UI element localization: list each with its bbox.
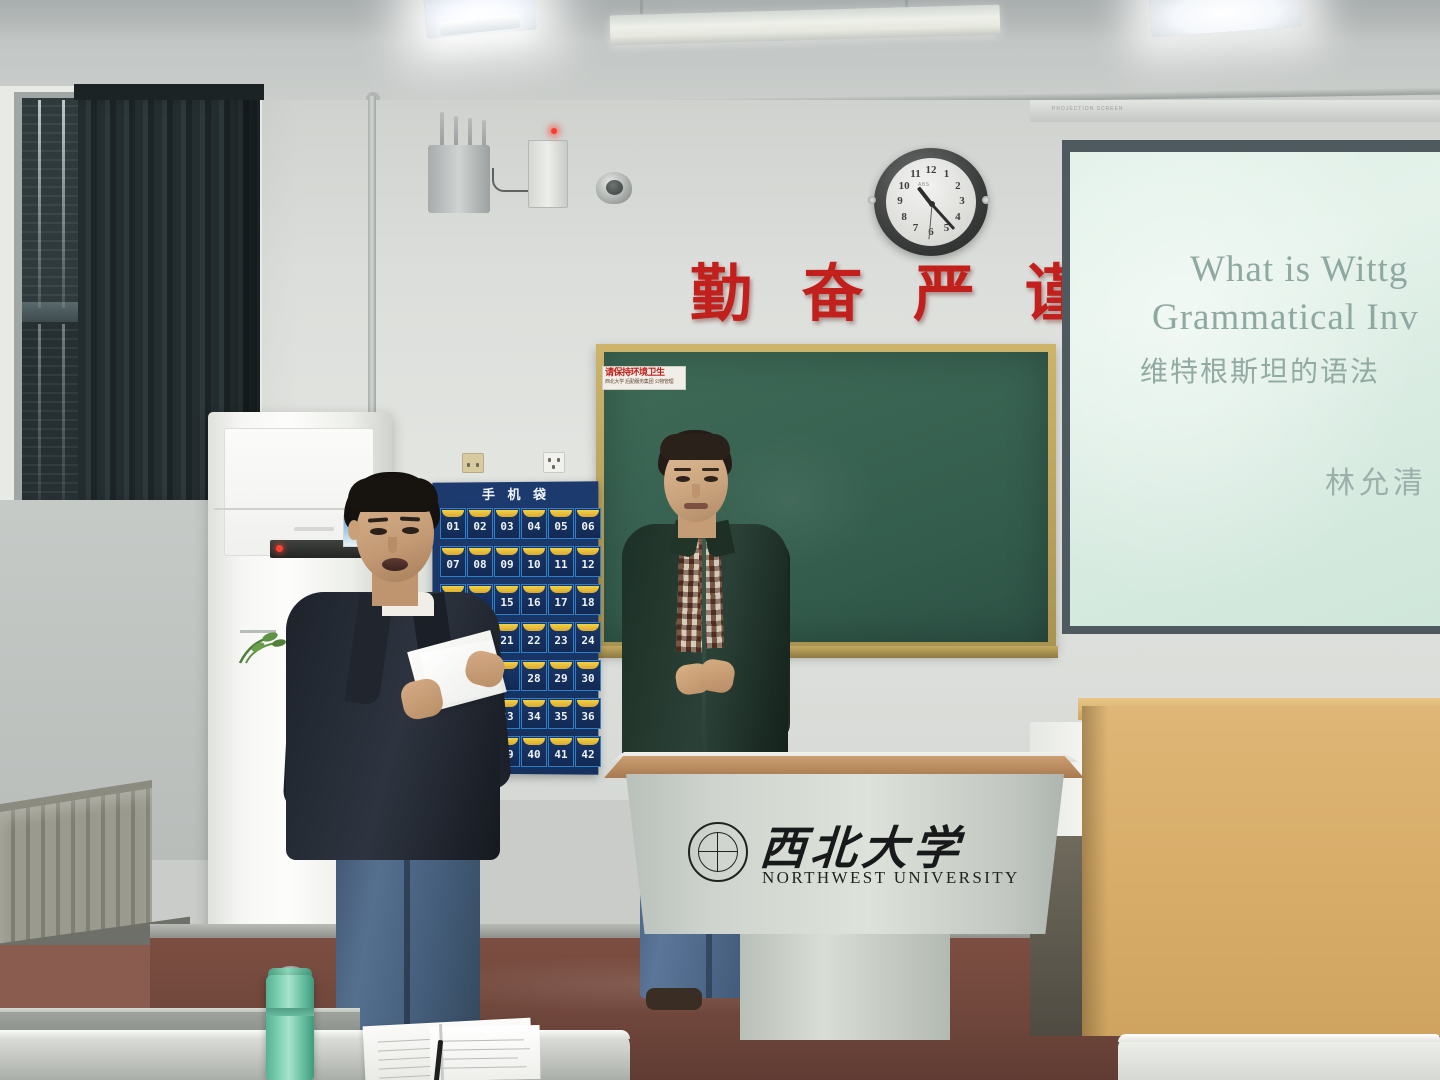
- clock-numeral: 6: [924, 226, 938, 238]
- clock-numeral: 1: [940, 168, 954, 180]
- phone-pocket[interactable]: 22: [521, 622, 547, 653]
- blind-cord[interactable]: [38, 100, 41, 308]
- phone-pocket[interactable]: 02: [467, 508, 493, 539]
- curtain-rail: [74, 84, 264, 100]
- podium-university-name-english: NORTHWEST UNIVERSITY: [762, 868, 1020, 888]
- thermos-band: [266, 1008, 314, 1016]
- phone-pocket-number: 18: [576, 596, 600, 609]
- phone-pocket[interactable]: 16: [521, 584, 547, 615]
- signal-jammer-device: [428, 145, 490, 213]
- phone-pocket-number: 35: [549, 710, 573, 723]
- person-left-ear: [348, 520, 360, 540]
- dome-sensor-lens: [606, 180, 623, 195]
- phone-pocket[interactable]: 30: [575, 660, 601, 691]
- person-center-eyebrow: [674, 468, 691, 471]
- slide-title-chinese: 维特根斯坦的语法: [1140, 350, 1380, 390]
- podium-column: [740, 930, 950, 1040]
- phone-pocket[interactable]: 08: [467, 546, 493, 577]
- phone-pocket-number: 15: [495, 596, 519, 609]
- phone-pocket[interactable]: 28: [521, 660, 547, 691]
- clock-numeral: 9: [893, 195, 907, 207]
- classroom-photo: 121234567891011 ABS 勤 奋 严 谨 请保持环境卫生 西北大学…: [0, 0, 1440, 1080]
- phone-pocket[interactable]: 24: [575, 622, 601, 653]
- wall-socket-tan[interactable]: [462, 453, 484, 473]
- open-notebook-right-page[interactable]: [430, 1025, 541, 1080]
- phone-pocket-number: 41: [549, 748, 573, 761]
- phone-pocket-number: 06: [576, 520, 600, 533]
- phone-pocket[interactable]: 11: [548, 546, 574, 577]
- phone-pocket-number: 07: [441, 558, 465, 571]
- green-thermos[interactable]: [266, 975, 314, 1080]
- phone-pocket-number: 17: [549, 596, 573, 609]
- phone-pocket-number: 28: [522, 672, 546, 685]
- notice-line-2: 西北大学 后勤服务集团 公物管理: [605, 379, 683, 386]
- phone-pocket[interactable]: 34: [521, 698, 547, 729]
- phone-pocket[interactable]: 18: [575, 584, 601, 615]
- clock-mount-screw: [982, 196, 990, 204]
- wall-slogan: 勤 奋 严 谨: [690, 258, 1120, 330]
- phone-pocket-number: 22: [522, 634, 546, 647]
- tube-hanger: [640, 0, 643, 14]
- notice-line-1: 请保持环境卫生: [605, 368, 683, 379]
- person-center-mouth: [684, 503, 708, 509]
- phone-pocket-number: 34: [522, 710, 546, 723]
- seal-divider-horizontal: [698, 851, 738, 852]
- right-student-table-edge: [1118, 1034, 1440, 1042]
- person-center-eye: [676, 476, 690, 482]
- power-led-icon: [276, 545, 283, 552]
- slide-author: 林允清: [1325, 458, 1427, 502]
- phone-pocket-number: 16: [522, 596, 546, 609]
- person-center-eyebrow: [702, 468, 719, 471]
- phone-pocket-number: 01: [441, 520, 465, 533]
- phone-pocket-number: 42: [576, 748, 600, 761]
- phone-pocket-number: 04: [522, 520, 546, 533]
- ac-vent-slot: [294, 527, 334, 531]
- phone-pocket[interactable]: 15: [494, 584, 520, 615]
- phone-pocket-chart-title: 手 机 袋: [440, 486, 592, 506]
- status-led-icon: [551, 128, 557, 134]
- phone-pocket-number: 11: [549, 558, 573, 571]
- phone-pocket[interactable]: 10: [521, 546, 547, 577]
- phone-pocket[interactable]: 05: [548, 508, 574, 539]
- person-center-jacket-zipper: [702, 534, 706, 764]
- phone-pocket[interactable]: 36: [575, 698, 601, 729]
- phone-pocket[interactable]: 42: [575, 736, 601, 767]
- person-center-hairline: [660, 434, 730, 460]
- phone-pocket[interactable]: 07: [440, 546, 466, 577]
- person-left-eye: [370, 528, 387, 535]
- person-left-jeans-seam: [404, 860, 410, 1040]
- person-center-eye: [704, 476, 718, 482]
- phone-pocket-number: 10: [522, 558, 546, 571]
- wall-control-box[interactable]: [528, 140, 568, 208]
- phone-pocket-number: 30: [576, 672, 600, 685]
- person-left-hairline: [348, 478, 438, 512]
- phone-pocket[interactable]: 40: [521, 736, 547, 767]
- phone-pocket-number: 02: [468, 520, 492, 533]
- phone-pocket[interactable]: 03: [494, 508, 520, 539]
- person-left-eye: [402, 527, 419, 534]
- phone-pocket[interactable]: 17: [548, 584, 574, 615]
- phone-pocket[interactable]: 06: [575, 508, 601, 539]
- clock-numeral: 2: [951, 180, 965, 192]
- clock-numeral: 3: [955, 195, 969, 207]
- clock-mount-screw: [868, 196, 876, 204]
- clock-center-pin: [929, 201, 935, 207]
- phone-pocket-number: 24: [576, 634, 600, 647]
- person-left-nose: [388, 537, 397, 553]
- phone-pocket-number: 03: [495, 520, 519, 533]
- clock-numeral: 12: [924, 164, 938, 176]
- wall-socket-white[interactable]: [543, 452, 565, 473]
- phone-pocket-row: 010203040506: [440, 508, 602, 539]
- phone-pocket-row: 070809101112: [440, 546, 602, 577]
- phone-pocket[interactable]: 12: [575, 546, 601, 577]
- phone-pocket[interactable]: 35: [548, 698, 574, 729]
- phone-pocket[interactable]: 09: [494, 546, 520, 577]
- podium-base: [700, 1034, 990, 1060]
- wood-desk-shadow: [1082, 706, 1108, 1036]
- clock-numeral: 10: [897, 180, 911, 192]
- phone-pocket[interactable]: 41: [548, 736, 574, 767]
- wall-conduit-downpipe: [368, 96, 376, 426]
- slide-title-line-1: What is Wittg: [1190, 248, 1408, 291]
- phone-pocket-number: 23: [549, 634, 573, 647]
- clock-numeral: 7: [909, 222, 923, 234]
- person-center-shoe: [646, 988, 702, 1010]
- wood-side-desk[interactable]: [1082, 706, 1440, 1036]
- person-left-mouth-open: [382, 558, 408, 571]
- phone-pocket-number: 08: [468, 558, 492, 571]
- phone-pocket[interactable]: 04: [521, 508, 547, 539]
- person-left-jacket: [286, 592, 500, 860]
- person-center-nose: [692, 484, 700, 498]
- clock-numeral: 11: [909, 168, 923, 180]
- phone-pocket-number: 05: [549, 520, 573, 533]
- university-seal-inner-ring: [698, 832, 738, 872]
- phone-pocket-number: 29: [549, 672, 573, 685]
- blackboard-notice-sticker: 请保持环境卫生 西北大学 后勤服务集团 公物管理: [602, 366, 686, 390]
- phone-pocket-number: 36: [576, 710, 600, 723]
- phone-pocket[interactable]: 23: [548, 622, 574, 653]
- blind-cord[interactable]: [62, 324, 65, 510]
- phone-pocket[interactable]: 29: [548, 660, 574, 691]
- blind-cord[interactable]: [62, 100, 65, 308]
- seal-divider-vertical: [717, 832, 718, 872]
- phone-pocket[interactable]: 01: [440, 508, 466, 539]
- slide-title-line-2: Grammatical Inv: [1152, 296, 1419, 339]
- phone-pocket-number: 40: [522, 748, 546, 761]
- phone-pocket-number: 09: [495, 558, 519, 571]
- blind-cord[interactable]: [38, 324, 41, 510]
- phone-pocket-number: 12: [576, 558, 600, 571]
- jammer-cable: [492, 168, 530, 192]
- screen-housing-label: PROJECTION SCREEN: [1052, 106, 1123, 112]
- clock-numeral: 8: [897, 211, 911, 223]
- clock-brand-label: ABS: [918, 182, 930, 188]
- clock-numeral: 4: [951, 211, 965, 223]
